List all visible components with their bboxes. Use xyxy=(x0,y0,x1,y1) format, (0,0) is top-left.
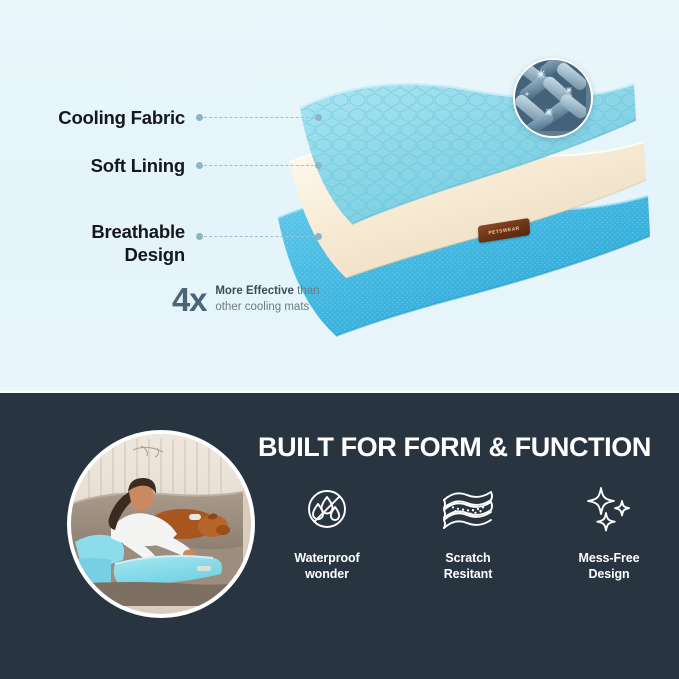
feature-label: Mess-Free Design xyxy=(579,551,640,582)
infographic-page: PETSWEAR xyxy=(0,0,679,679)
leader-dot-start xyxy=(196,233,203,240)
leader-line-icon xyxy=(196,161,322,170)
claim-multiplier: 4x xyxy=(172,283,206,316)
claim-rest: than xyxy=(294,285,320,297)
claim-headline: More Effective xyxy=(215,285,294,297)
feature-list: Waterproof wonder xyxy=(268,481,668,582)
callout-label: Cooling Fabric xyxy=(58,107,185,130)
leader-line-icon xyxy=(196,232,322,241)
leader-dash xyxy=(204,236,314,237)
leader-line-icon xyxy=(196,113,322,122)
callout-cooling-fabric: Cooling Fabric xyxy=(0,107,185,130)
sparkles-icon xyxy=(584,481,634,537)
brand-tag-label: PETSWEAR xyxy=(488,225,519,236)
leader-dot-start xyxy=(196,162,203,169)
feature-mess-free: Mess-Free Design xyxy=(550,481,668,582)
feature-waterproof: Waterproof wonder xyxy=(268,481,386,582)
claim-subtext: other cooling mats xyxy=(215,301,309,313)
feature-scratch-resistant: Scratch Resitant xyxy=(409,481,527,582)
leader-dash xyxy=(204,165,314,166)
leader-dash xyxy=(204,117,314,118)
callout-label: Soft Lining xyxy=(91,155,185,178)
leader-dot-end xyxy=(315,114,322,121)
leader-dot-end xyxy=(315,162,322,169)
fabric-weave-closeup xyxy=(513,58,593,138)
leader-dot-end xyxy=(315,233,322,240)
lifestyle-photo xyxy=(67,430,255,618)
section-title: BUILT FOR FORM & FUNCTION xyxy=(258,434,658,461)
claim-text: More Effective than other cooling mats xyxy=(215,284,319,314)
fabric-waves-icon xyxy=(441,481,495,537)
callout-soft-lining: Soft Lining xyxy=(0,155,185,178)
product-layers-section: PETSWEAR xyxy=(0,0,679,391)
effectiveness-claim: 4x More Effective than other cooling mat… xyxy=(172,283,320,316)
water-drop-no-icon xyxy=(303,481,351,537)
feature-label: Waterproof wonder xyxy=(294,551,359,582)
callout-breathable-design: Breathable Design xyxy=(0,221,185,266)
callout-label: Breathable Design xyxy=(91,221,185,266)
feature-label: Scratch Resitant xyxy=(444,551,493,582)
features-section: BUILT FOR FORM & FUNCTION Waterproof won… xyxy=(0,393,679,679)
mat-exploded-view: PETSWEAR xyxy=(268,40,679,350)
leader-dot-start xyxy=(196,114,203,121)
